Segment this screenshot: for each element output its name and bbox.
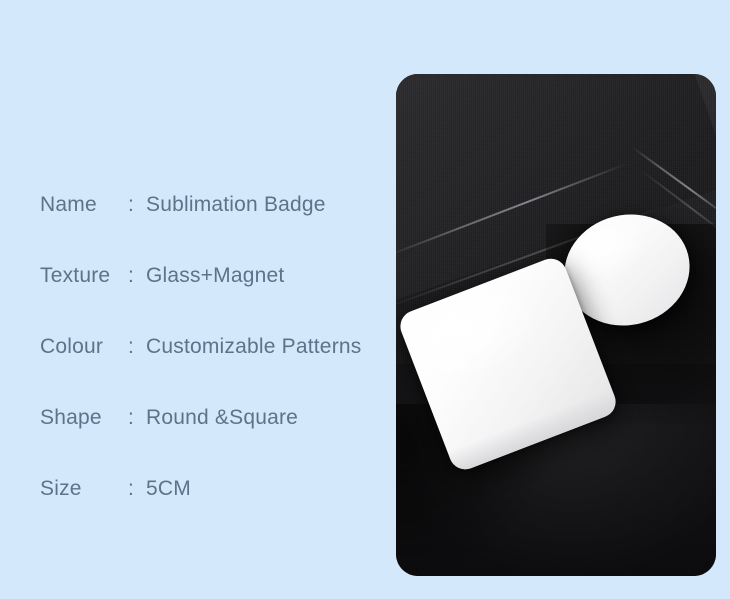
spec-value: Sublimation Badge (146, 193, 326, 217)
product-info-banner: Name : Sublimation Badge Texture : Glass… (0, 0, 730, 599)
spec-label: Name (40, 193, 128, 217)
product-photo (396, 74, 716, 576)
spec-row-shape: Shape : Round &Square (40, 406, 390, 477)
spec-colon: : (128, 335, 146, 359)
spec-colon: : (128, 477, 146, 501)
spec-value: Glass+Magnet (146, 264, 284, 288)
spec-label: Texture (40, 264, 128, 288)
spec-label: Colour (40, 335, 128, 359)
spec-colon: : (128, 406, 146, 430)
spec-row-size: Size : 5CM (40, 477, 390, 548)
spec-colon: : (128, 264, 146, 288)
spec-colon: : (128, 193, 146, 217)
spec-row-texture: Texture : Glass+Magnet (40, 264, 390, 335)
spec-label: Size (40, 477, 128, 501)
spec-row-colour: Colour : Customizable Patterns (40, 335, 390, 406)
spec-row-name: Name : Sublimation Badge (40, 193, 390, 264)
spec-value: 5CM (146, 477, 191, 501)
spec-label: Shape (40, 406, 128, 430)
spec-value: Customizable Patterns (146, 335, 361, 359)
specification-list: Name : Sublimation Badge Texture : Glass… (40, 193, 390, 548)
spec-value: Round &Square (146, 406, 298, 430)
